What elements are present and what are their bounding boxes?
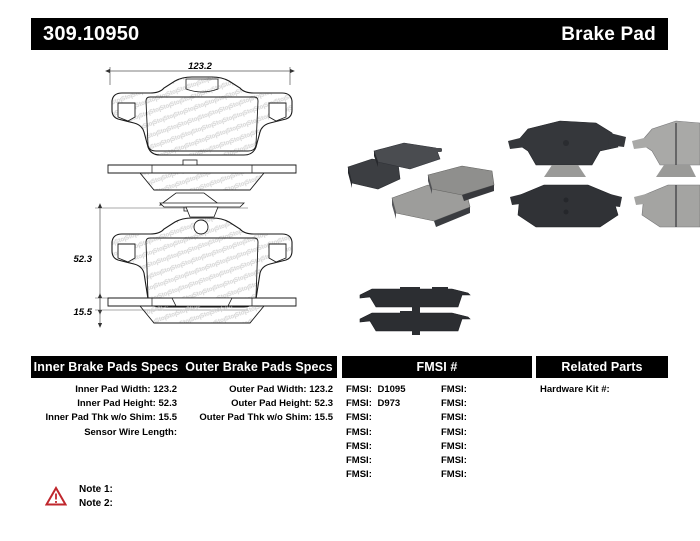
- spec-label: Outer Pad Height:: [231, 398, 312, 409]
- table-header-inner-specs: Inner Brake Pads Specs: [31, 356, 181, 378]
- fmsi-row: FMSI:: [437, 411, 532, 425]
- table-header-fmsi: FMSI #: [342, 356, 532, 378]
- fmsi-row: FMSI:: [342, 411, 437, 425]
- fmsi-label: FMSI:: [346, 384, 372, 395]
- spec-value: 15.5: [159, 412, 178, 423]
- fmsi-value: [467, 412, 470, 423]
- table-header-related-parts: Related Parts: [536, 356, 668, 378]
- note-lines: Note 1: Note 2:: [79, 483, 113, 511]
- spec-value: 15.5: [315, 412, 334, 423]
- fmsi-value: [467, 469, 470, 480]
- fmsi-label: FMSI:: [346, 412, 372, 423]
- photo-pads-grid: [508, 121, 700, 227]
- fmsi-row: FMSI:: [437, 468, 532, 482]
- notes-section: Note 1: Note 2:: [45, 483, 113, 511]
- fmsi-label: FMSI:: [441, 469, 467, 480]
- spec-tables: Inner Brake Pads Specs Outer Brake Pads …: [31, 356, 668, 482]
- spec-value: 52.3: [315, 398, 334, 409]
- spec-label: Outer Pad Width:: [229, 384, 307, 395]
- header-bar: 309.10950 Brake Pad: [31, 18, 668, 50]
- fmsi-label: FMSI:: [441, 412, 467, 423]
- part-number: 309.10950: [43, 24, 139, 44]
- spec-label: Inner Pad Width:: [75, 384, 150, 395]
- photo-pads-stacked: [360, 287, 470, 335]
- pad-bottom-view: 52.3: [74, 203, 293, 310]
- fmsi-subcolumn-left: FMSI: D1095 FMSI: D973 FMSI: FMSI: FMSI:: [342, 383, 437, 482]
- spec-value: 123.2: [153, 384, 177, 395]
- warning-triangle-icon: [45, 486, 67, 506]
- fmsi-value: D1095: [375, 384, 406, 395]
- fmsi-label: FMSI:: [346, 455, 372, 466]
- fmsi-row: FMSI:: [437, 440, 532, 454]
- fmsi-value: D973: [375, 398, 401, 409]
- fmsi-label: FMSI:: [441, 441, 467, 452]
- outer-specs-column: Outer Pad Width: 123.2 Outer Pad Height:…: [181, 383, 337, 482]
- dimension-height-label: 52.3: [74, 254, 93, 265]
- fmsi-row: FMSI:: [437, 397, 532, 411]
- page-title: Brake Pad: [561, 25, 656, 44]
- spec-row: Outer Pad Height: 52.3: [181, 397, 337, 411]
- note-item: Note 2:: [79, 497, 113, 511]
- technical-drawing: StopTech 123.2: [0, 55, 700, 345]
- fmsi-subcolumn-right: FMSI: FMSI: FMSI: FMSI: FMSI:: [437, 383, 532, 482]
- fmsi-row: FMSI:: [437, 454, 532, 468]
- fmsi-value: [372, 412, 375, 423]
- fmsi-label: FMSI:: [346, 398, 372, 409]
- spec-row: Inner Pad Width: 123.2: [31, 383, 181, 397]
- spec-label: Outer Pad Thk w/o Shim:: [199, 412, 311, 423]
- spec-row: Outer Pad Thk w/o Shim: 15.5: [181, 411, 337, 425]
- related-part-label: Hardware Kit #:: [540, 384, 610, 395]
- dimension-width-label: 123.2: [188, 61, 212, 72]
- fmsi-label: FMSI:: [346, 427, 372, 438]
- spec-row: Inner Pad Thk w/o Shim: 15.5: [31, 411, 181, 425]
- drawing-area: StopTech 123.2: [0, 55, 700, 345]
- fmsi-value: [372, 441, 375, 452]
- fmsi-row: FMSI: D973: [342, 397, 437, 411]
- fmsi-value: [467, 455, 470, 466]
- fmsi-value: [372, 455, 375, 466]
- fmsi-value: [467, 441, 470, 452]
- fmsi-value: [467, 384, 470, 395]
- fmsi-label: FMSI:: [441, 427, 467, 438]
- note-item: Note 1:: [79, 483, 113, 497]
- fmsi-label: FMSI:: [441, 384, 467, 395]
- pad-thickness-profile: [108, 298, 296, 323]
- fmsi-row: FMSI:: [437, 383, 532, 397]
- table-header-row: Inner Brake Pads Specs Outer Brake Pads …: [31, 356, 668, 378]
- fmsi-column: FMSI: D1095 FMSI: D973 FMSI: FMSI: FMSI:: [342, 383, 532, 482]
- spec-label: Inner Pad Height:: [77, 398, 156, 409]
- spec-label: Inner Pad Thk w/o Shim:: [46, 412, 156, 423]
- related-parts-column: Hardware Kit #:: [536, 383, 668, 482]
- pad-top-view: 123.2: [110, 61, 292, 155]
- photo-pads-scattered: [348, 143, 494, 227]
- fmsi-value: [467, 427, 470, 438]
- fmsi-value: [372, 427, 375, 438]
- fmsi-row: FMSI:: [342, 454, 437, 468]
- fmsi-label: FMSI:: [441, 398, 467, 409]
- fmsi-label: FMSI:: [346, 469, 372, 480]
- fmsi-row: FMSI:: [342, 426, 437, 440]
- fmsi-row: FMSI:: [437, 426, 532, 440]
- fmsi-label: FMSI:: [441, 455, 467, 466]
- dimension-thickness-label: 15.5: [74, 307, 93, 318]
- fmsi-value: [372, 469, 375, 480]
- table-header-outer-specs: Outer Brake Pads Specs: [181, 356, 337, 378]
- spec-value: 52.3: [159, 398, 178, 409]
- spec-row: Sensor Wire Length:: [31, 426, 181, 440]
- pad-bottom-side-profile: 15.5: [74, 298, 113, 323]
- fmsi-row: FMSI:: [342, 440, 437, 454]
- spec-row: Inner Pad Height: 52.3: [31, 397, 181, 411]
- inner-specs-column: Inner Pad Width: 123.2 Inner Pad Height:…: [31, 383, 181, 482]
- table-body-row: Inner Pad Width: 123.2 Inner Pad Height:…: [31, 383, 668, 482]
- fmsi-row: FMSI:: [342, 468, 437, 482]
- fmsi-row: FMSI: D1095: [342, 383, 437, 397]
- related-part-row: Hardware Kit #:: [536, 383, 668, 397]
- spec-row: Outer Pad Width: 123.2: [181, 383, 337, 397]
- fmsi-value: [467, 398, 470, 409]
- spec-value: 123.2: [309, 384, 333, 395]
- fmsi-label: FMSI:: [346, 441, 372, 452]
- spec-label: Sensor Wire Length:: [84, 427, 177, 438]
